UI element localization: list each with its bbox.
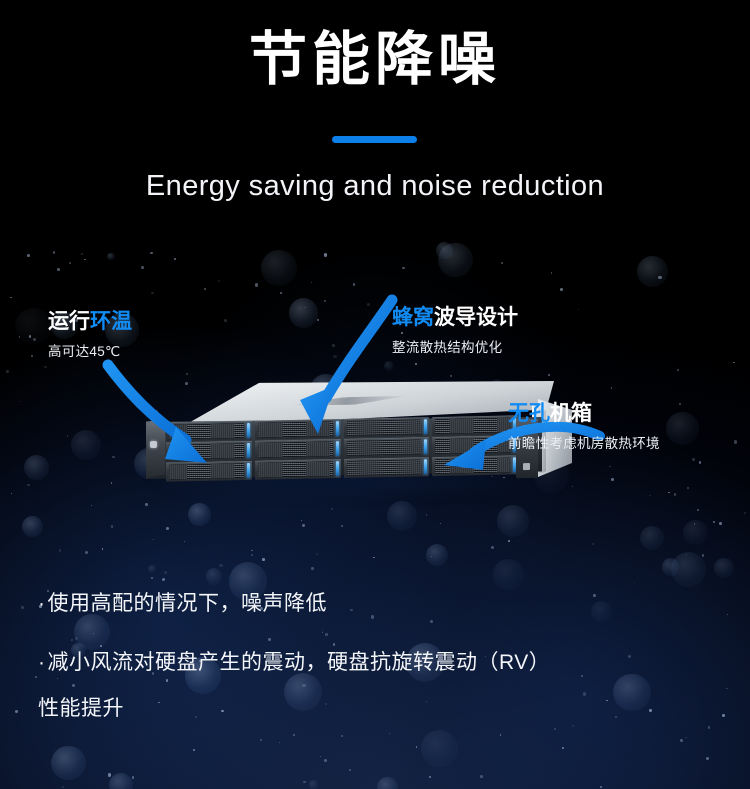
power-button-icon bbox=[150, 441, 157, 448]
callout-holeless-chassis: 无孔机箱 前瞻性考虑机房散热环境 bbox=[508, 402, 660, 452]
callout-temp-sub: 高可达45℃ bbox=[48, 340, 132, 360]
drive-bay-mesh-icon bbox=[258, 441, 333, 457]
drive-bay bbox=[344, 437, 430, 457]
callout-temp-heading-highlight: 环温 bbox=[90, 310, 132, 333]
callout-temp-heading: 运行环温 bbox=[48, 310, 132, 335]
callout-nohole-sub: 前瞻性考虑机房散热环境 bbox=[508, 432, 660, 452]
drive-bay bbox=[255, 439, 341, 459]
bullet-marker: · bbox=[38, 651, 46, 674]
page-subtitle: Energy saving and noise reduction bbox=[0, 170, 750, 203]
feature-bullet-list: ·使用高配的情况下，噪声降低 ·减小风流对硬盘产生的震动，硬盘抗旋转震动（RV）… bbox=[38, 588, 718, 726]
drive-led-indicator bbox=[424, 460, 427, 475]
list-item: ·使用高配的情况下，噪声降低 bbox=[38, 588, 718, 621]
server-rack-ear-left bbox=[146, 418, 165, 478]
drive-bay-mesh-icon bbox=[347, 419, 422, 435]
drive-bay-mesh-icon bbox=[347, 460, 422, 476]
drive-bay-mesh-icon bbox=[435, 417, 510, 433]
callout-nohole-heading: 无孔机箱 bbox=[508, 402, 660, 427]
drive-bay bbox=[432, 435, 518, 455]
bullet-text: 使用高配的情况下，噪声降低 bbox=[48, 592, 328, 615]
drive-bay-mesh-icon bbox=[169, 463, 244, 479]
drive-bay bbox=[166, 461, 252, 481]
bullet-text: 减小风流对硬盘产生的震动，硬盘抗旋转震动（RV） bbox=[48, 651, 551, 674]
drive-led-indicator bbox=[336, 441, 339, 456]
drive-bay bbox=[432, 456, 518, 476]
callout-nohole-heading-highlight: 无孔 bbox=[508, 402, 550, 425]
drive-led-indicator bbox=[424, 439, 427, 454]
callout-honeycomb-sub: 整流散热结构优化 bbox=[392, 336, 518, 356]
drive-bay-mesh-icon bbox=[169, 423, 244, 439]
callout-honeycomb-waveguide: 蜂窝波导设计 整流散热结构优化 bbox=[392, 306, 518, 356]
drive-bay-mesh-icon bbox=[258, 421, 333, 437]
bullet-marker: · bbox=[38, 592, 46, 615]
drive-led-indicator bbox=[424, 419, 427, 434]
drive-bay bbox=[166, 441, 252, 461]
bullet-text-continued: 性能提升 bbox=[38, 693, 718, 726]
drive-bay bbox=[166, 421, 252, 441]
page-title: 节能降噪 bbox=[0, 26, 750, 93]
drive-bay bbox=[255, 459, 341, 479]
drive-bay-mesh-icon bbox=[169, 443, 244, 459]
callout-honeycomb-heading-highlight: 蜂窝 bbox=[392, 306, 434, 329]
drive-bay bbox=[344, 417, 430, 437]
drive-bay-grid bbox=[166, 415, 518, 481]
drive-led-indicator bbox=[247, 423, 250, 438]
drive-bay bbox=[255, 419, 341, 439]
status-indicator-icon bbox=[523, 463, 530, 470]
drive-led-indicator bbox=[247, 463, 250, 478]
promo-banner: 节能降噪 Energy saving and noise reduction bbox=[0, 0, 750, 789]
drive-bay-mesh-icon bbox=[347, 439, 422, 455]
drive-bay bbox=[344, 458, 430, 478]
drive-led-indicator bbox=[336, 461, 339, 476]
callout-operating-temperature: 运行环温 高可达45℃ bbox=[48, 310, 132, 360]
title-divider bbox=[332, 136, 417, 143]
drive-bay bbox=[432, 415, 518, 435]
callout-temp-heading-plain: 运行 bbox=[48, 310, 90, 333]
drive-bay-mesh-icon bbox=[435, 458, 510, 474]
server-chassis-illustration bbox=[140, 381, 570, 501]
drive-bay-mesh-icon bbox=[435, 438, 510, 454]
drive-led-indicator bbox=[336, 421, 339, 436]
drive-led-indicator bbox=[247, 443, 250, 458]
drive-bay-mesh-icon bbox=[258, 462, 333, 478]
callout-honeycomb-heading-plain: 波导设计 bbox=[434, 306, 518, 329]
callout-honeycomb-heading: 蜂窝波导设计 bbox=[392, 306, 518, 331]
callout-nohole-heading-plain: 机箱 bbox=[550, 402, 592, 425]
list-item: ·减小风流对硬盘产生的震动，硬盘抗旋转震动（RV） 性能提升 bbox=[38, 647, 718, 726]
